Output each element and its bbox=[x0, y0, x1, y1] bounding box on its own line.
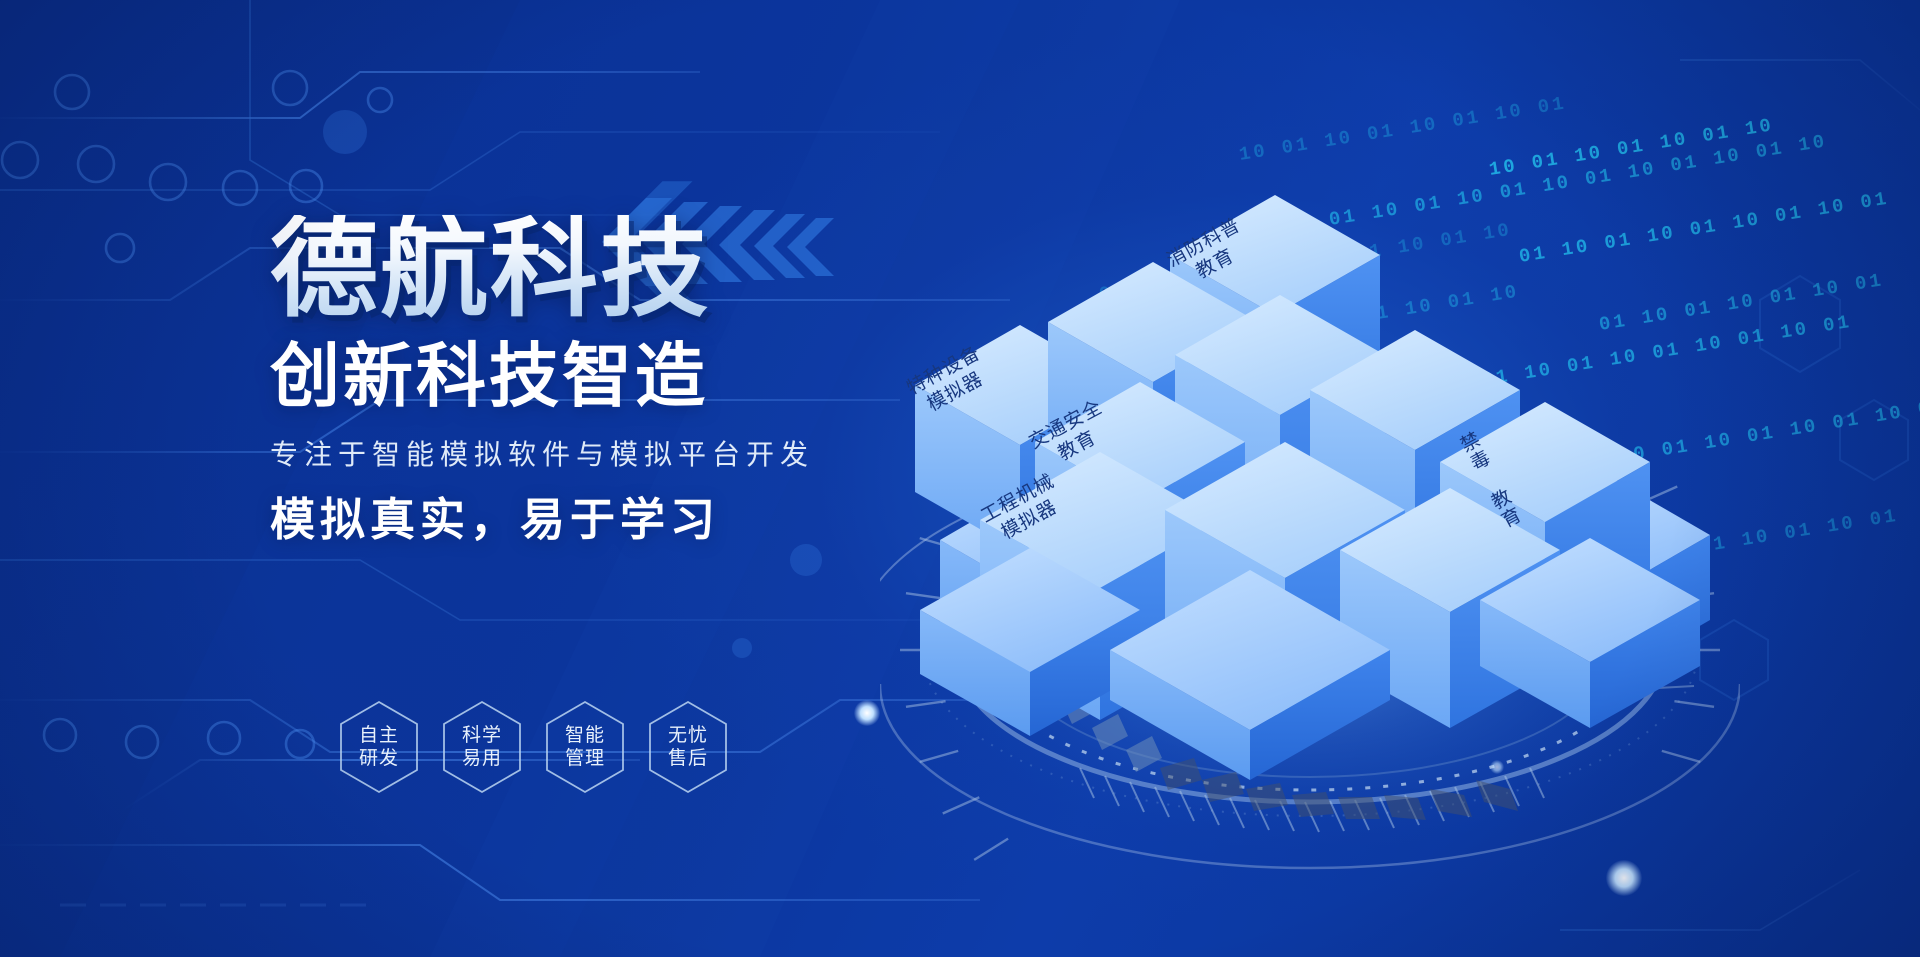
badge-smart-management[interactable]: 智能 管理 bbox=[544, 700, 626, 794]
feature-badges: 自主 研发 科学 易用 智能 管理 bbox=[338, 700, 729, 794]
hero-banner: 01 10 01 10 01 10 01 10 01 10 10 01 10 0… bbox=[0, 0, 1920, 957]
badge-worry-free-service[interactable]: 无忧 售后 bbox=[647, 700, 729, 794]
badge-line1: 自主 bbox=[359, 725, 399, 746]
badge-line1: 科学 bbox=[462, 725, 502, 746]
svg-text:10 01 10 01 10 01 10: 10 01 10 01 10 01 10 bbox=[1487, 114, 1775, 181]
badge-line2: 售后 bbox=[668, 748, 708, 769]
glow-dot-left bbox=[854, 700, 880, 726]
badge-label: 无忧 售后 bbox=[668, 724, 708, 770]
badge-line2: 研发 bbox=[359, 748, 399, 769]
badge-scientific-easy[interactable]: 科学 易用 bbox=[441, 700, 523, 794]
badge-line2: 易用 bbox=[462, 748, 502, 769]
badge-line1: 无忧 bbox=[668, 725, 708, 746]
badge-line1: 智能 bbox=[565, 725, 605, 746]
badge-label: 科学 易用 bbox=[462, 724, 502, 770]
badge-self-developed[interactable]: 自主 研发 bbox=[338, 700, 420, 794]
badge-line2: 管理 bbox=[565, 748, 605, 769]
badge-label: 智能 管理 bbox=[565, 724, 605, 770]
isometric-cube-scene: 特种设备 模拟器 消防科普 教育 交通安全 教育 工程机械 模拟器 禁毒 教育 bbox=[880, 180, 1740, 880]
svg-text:10 01 10 01 10 01 10 01: 10 01 10 01 10 01 10 01 bbox=[1237, 92, 1568, 166]
badge-label: 自主 研发 bbox=[359, 724, 399, 770]
